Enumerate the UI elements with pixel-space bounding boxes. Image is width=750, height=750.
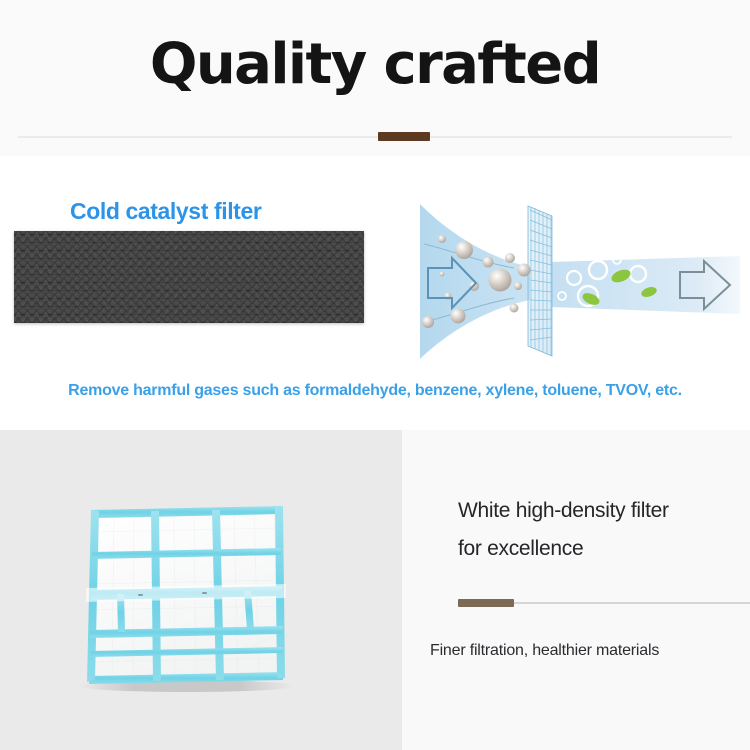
white-filter-image-panel [0,430,402,750]
cold-catalyst-title: Cold catalyst filter [70,198,261,225]
product-feature-page: Quality crafted Cold catalyst filter [0,0,750,750]
page-title: Quality crafted [0,34,750,96]
white-filter-text-panel: White high-density filter for excellence… [402,430,750,750]
white-high-density-filter-image [58,506,313,696]
white-filter-heading: White high-density filter for excellence [458,492,743,568]
filter-mesh-grid [528,206,552,356]
white-filter-heading-line2: for excellence [458,530,743,568]
cold-catalyst-caption: Remove harmful gases such as formaldehyd… [0,382,750,400]
white-filter-section: White high-density filter for excellence… [0,430,750,750]
page-header: Quality crafted [0,0,750,156]
white-filter-subcaption: Finer filtration, healthier materials [430,642,659,660]
white-filter-accent-bar [458,599,514,607]
header-divider [18,136,732,138]
clean-airflow-stream [552,256,740,314]
header-accent-bar [378,132,430,141]
airflow-filtration-diagram [402,204,750,359]
cold-catalyst-section: Cold catalyst filter [0,156,750,430]
black-honeycomb-carbon-filter-image [14,231,364,323]
white-filter-heading-line1: White high-density filter [458,492,743,530]
